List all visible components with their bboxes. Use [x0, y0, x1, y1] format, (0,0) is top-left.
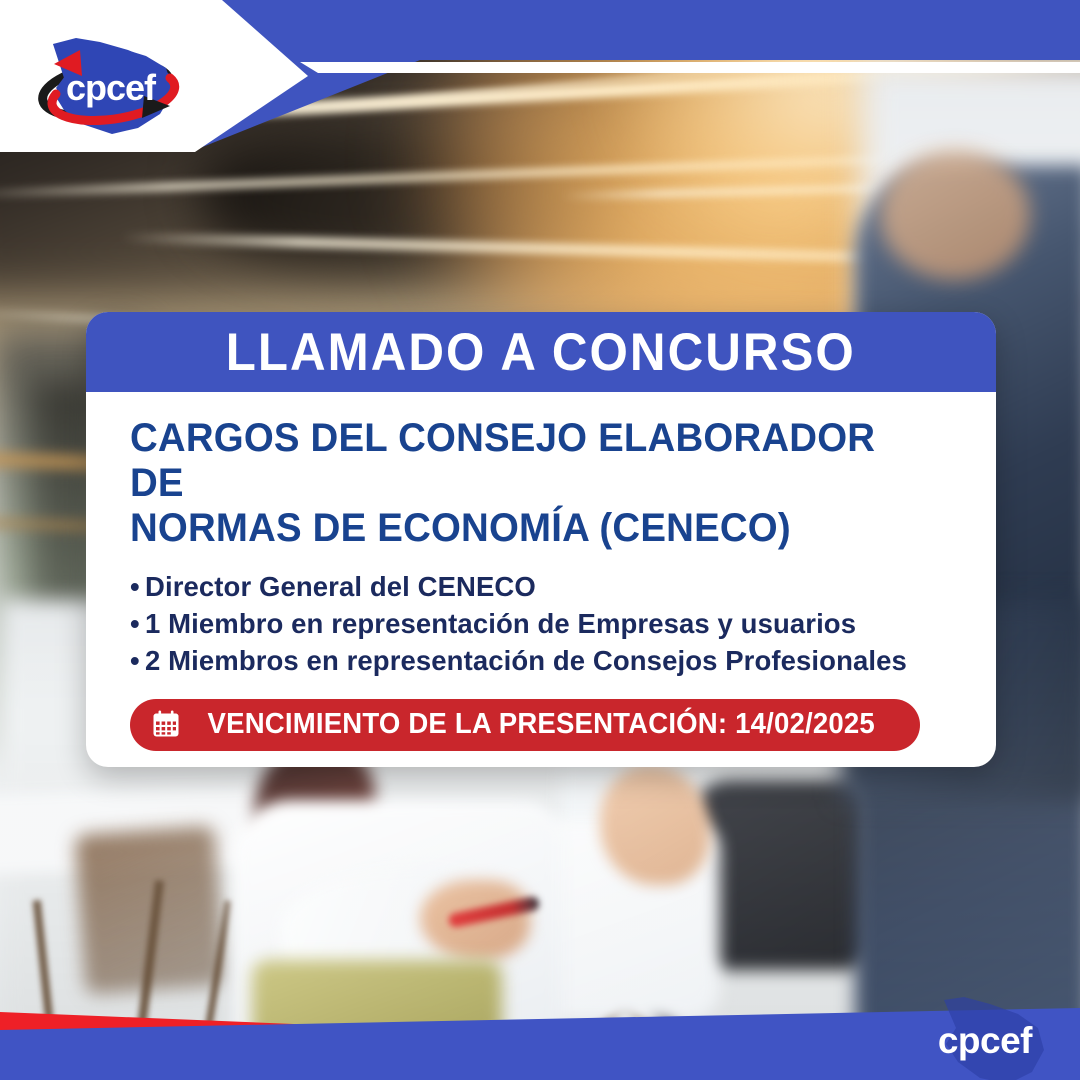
footer-wordmark[interactable]: cpcef	[938, 1020, 1032, 1062]
card-body: CARGOS DEL CONSEJO ELABORADOR DE NORMAS …	[86, 392, 996, 751]
deadline-badge: VENCIMIENTO DE LA PRESENTACIÓN: 14/02/20…	[130, 699, 920, 751]
deadline-label: VENCIMIENTO DE LA PRESENTACIÓN: 14/02/20…	[208, 708, 875, 741]
bullet-marker: •	[130, 644, 145, 677]
list-item-label: 2 Miembros en representación de Consejos…	[145, 645, 907, 676]
bullet-marker: •	[130, 570, 145, 603]
card-header: LLAMADO A CONCURSO	[86, 312, 996, 392]
page-title: LLAMADO A CONCURSO	[226, 322, 856, 383]
cpcef-logo[interactable]: cpcef	[20, 28, 202, 140]
svg-text:cpcef: cpcef	[66, 67, 157, 108]
bottom-brand-bar: cpcef	[0, 990, 1080, 1080]
list-item-label: Director General del CENECO	[145, 571, 536, 602]
positions-list: •Director General del CENECO •1 Miembro …	[130, 570, 952, 677]
announcement-card: LLAMADO A CONCURSO CARGOS DEL CONSEJO EL…	[86, 312, 996, 767]
list-item-label: 1 Miembro en representación de Empresas …	[145, 608, 856, 639]
bottom-blue-band	[0, 990, 1080, 1080]
subtitle-line-1: CARGOS DEL CONSEJO ELABORADOR DE	[130, 416, 875, 505]
card-subtitle: CARGOS DEL CONSEJO ELABORADOR DE NORMAS …	[130, 416, 919, 552]
bullet-marker: •	[130, 607, 145, 640]
poster-canvas: cpcef LLAMADO A CONCURSO CARGOS DEL CONS…	[0, 0, 1080, 1080]
list-item: •2 Miembros en representación de Consejo…	[130, 644, 952, 677]
subtitle-line-2: NORMAS DE ECONOMÍA (CENECO)	[130, 506, 791, 550]
list-item: •1 Miembro en representación de Empresas…	[130, 607, 952, 640]
calendar-icon	[152, 710, 180, 738]
top-brand-bar: cpcef	[0, 0, 1080, 150]
list-item: •Director General del CENECO	[130, 570, 952, 603]
top-white-strip	[300, 62, 1080, 73]
